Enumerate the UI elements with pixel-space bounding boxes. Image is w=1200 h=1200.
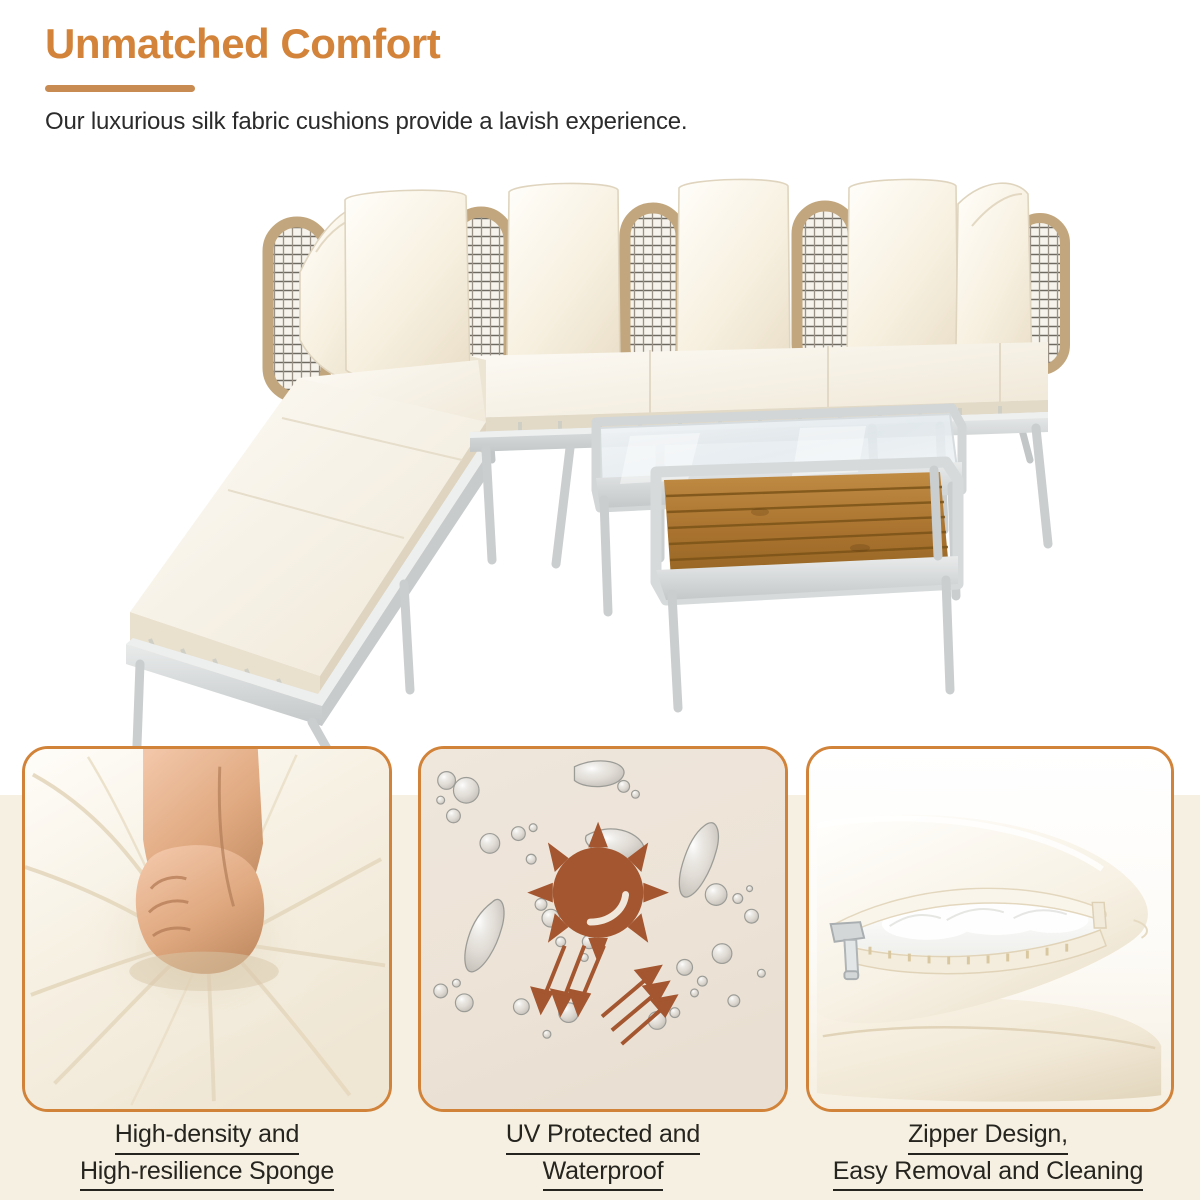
pillow-with-zipper-icon — [809, 749, 1171, 1109]
feature-panel-uv-waterproof[interactable] — [418, 746, 788, 1112]
feature-panel-zipper[interactable] — [806, 746, 1174, 1112]
sun-with-water-droplets-icon — [421, 749, 785, 1109]
wood-slat-side-table — [656, 462, 958, 708]
caption-uv-waterproof: UV Protected and Waterproof — [413, 1118, 793, 1191]
page-title: Unmatched Comfort — [45, 22, 1145, 66]
caption-line: High-density and — [115, 1118, 299, 1155]
caption-line: Zipper Design, — [908, 1118, 1068, 1155]
hero-product-image — [0, 160, 1200, 760]
header: Unmatched Comfort Our luxurious silk fab… — [45, 22, 1145, 136]
caption-line: Waterproof — [543, 1155, 664, 1192]
sun-icon — [527, 822, 669, 964]
caption-line: Easy Removal and Cleaning — [833, 1155, 1143, 1192]
feature-panel-sponge[interactable] — [22, 746, 392, 1112]
caption-line: High-resilience Sponge — [80, 1155, 334, 1192]
caption-sponge: High-density and High-resilience Sponge — [17, 1118, 397, 1191]
caption-zipper: Zipper Design, Easy Removal and Cleaning — [801, 1118, 1175, 1191]
hand-pressing-cushion-icon — [25, 749, 389, 1109]
sectional-sofa-illustration — [0, 160, 1200, 760]
product-feature-page: Unmatched Comfort Our luxurious silk fab… — [0, 0, 1200, 1200]
page-subtitle: Our luxurious silk fabric cushions provi… — [45, 108, 1145, 136]
title-underline-rule — [45, 85, 195, 92]
caption-line: UV Protected and — [506, 1118, 700, 1155]
